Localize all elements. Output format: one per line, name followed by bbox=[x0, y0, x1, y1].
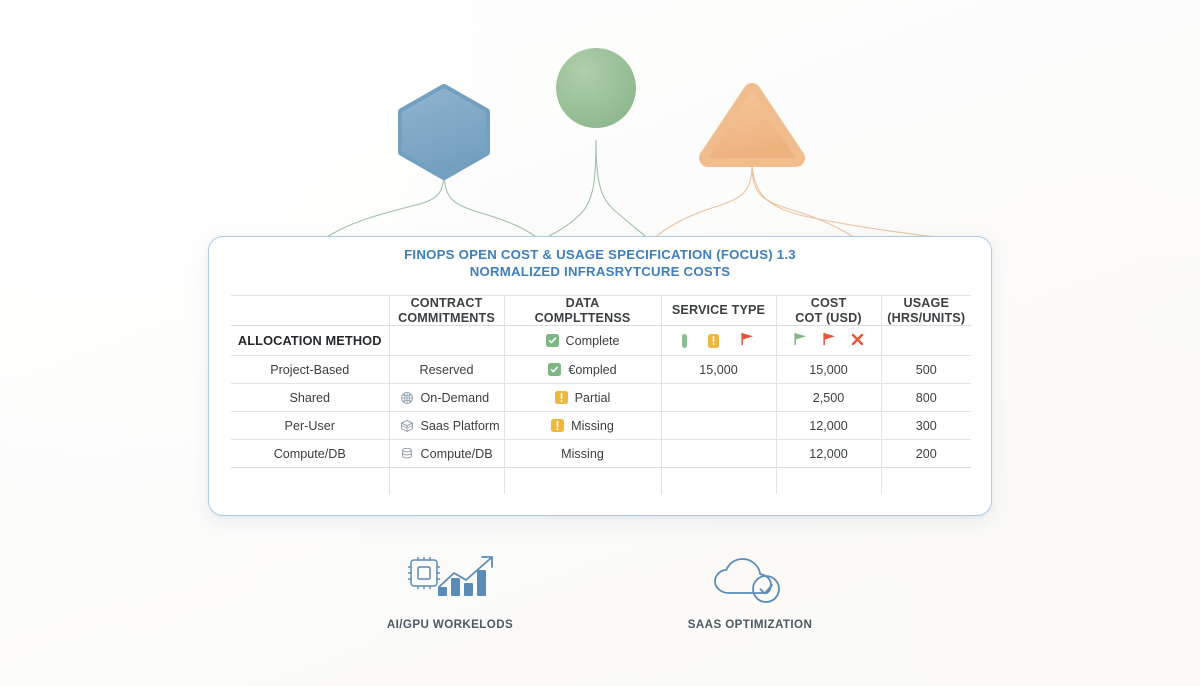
table-row: Per-User Saas Platform bbox=[231, 412, 971, 440]
row-cost: 12,000 bbox=[776, 440, 881, 468]
hexagon-shape bbox=[402, 88, 486, 176]
allocation-commitments-cell bbox=[389, 326, 504, 356]
feature-caption: AI/GPU WORKELODS bbox=[387, 618, 513, 631]
row-usage: 800 bbox=[881, 384, 971, 412]
row-cost: 2,500 bbox=[776, 384, 881, 412]
col-header-data-completeness: DATA COMPLTTENSS bbox=[504, 296, 661, 326]
allocation-method-label: ALLOCATION METHOD bbox=[231, 326, 389, 356]
table-body: ALLOCATION METHOD Complete bbox=[231, 326, 971, 494]
connector-orange-group bbox=[652, 164, 960, 240]
card-title: FINOPS OPEN COST & USAGE SPECIFICATION (… bbox=[209, 237, 991, 280]
allocation-method-row: ALLOCATION METHOD Complete bbox=[231, 326, 971, 356]
col-header-service-type: SERVICE TYPE bbox=[661, 296, 776, 326]
flag-red-icon bbox=[822, 332, 837, 349]
row-completeness: €ompled bbox=[504, 356, 661, 384]
circle-shape bbox=[556, 48, 636, 128]
col-header-line1: USAGE bbox=[882, 296, 972, 311]
allocation-service-icons-cell bbox=[661, 326, 776, 356]
row-completeness: Partial bbox=[504, 384, 661, 412]
row-method: Shared bbox=[231, 384, 389, 412]
col-header-cost: COST COT (USD) bbox=[776, 296, 881, 326]
warn-amber-icon bbox=[551, 419, 564, 432]
table-row: Shared On-Demand bbox=[231, 384, 971, 412]
cloud-check-icon bbox=[708, 552, 792, 610]
row-commitment-text: On-Demand bbox=[421, 391, 490, 405]
database-icon bbox=[400, 447, 414, 461]
row-method: Compute/DB bbox=[231, 440, 389, 468]
row-completeness-text: Missing bbox=[571, 419, 614, 433]
chip-barchart-growth-icon bbox=[398, 552, 503, 610]
bar-amber-warning-icon bbox=[708, 334, 719, 348]
row-completeness: Missing bbox=[504, 412, 661, 440]
col-header-contract-commitments: CONTRACT COMMITMENTS bbox=[389, 296, 504, 326]
col-header-line2: (HRS/UNITS) bbox=[882, 311, 972, 326]
allocation-completeness-cell: Complete bbox=[504, 326, 661, 356]
row-usage: 300 bbox=[881, 412, 971, 440]
feature-row: AI/GPU WORKELODS SAAS OPTIMIZATION bbox=[0, 552, 1200, 631]
col-header-line1: COST bbox=[777, 296, 881, 311]
row-cost: 15,000 bbox=[776, 356, 881, 384]
row-completeness-text: €ompled bbox=[568, 363, 616, 377]
col-header-usage: USAGE (HRS/UNITS) bbox=[881, 296, 971, 326]
table-header-row: CONTRACT COMMITMENTS DATA COMPLTTENSS SE… bbox=[231, 296, 971, 326]
card-title-line2: NORMALIZED INFRASRYTCURE COSTS bbox=[209, 264, 991, 281]
flag-green-icon bbox=[793, 332, 808, 349]
col-header-line2: COMPLTTENSS bbox=[505, 311, 661, 326]
allocation-completeness-text: Complete bbox=[566, 334, 620, 348]
cross-red-icon bbox=[851, 333, 864, 349]
col-header-line1: CONTRACT bbox=[390, 296, 504, 311]
row-completeness: Missing bbox=[504, 440, 661, 468]
row-commitment: Saas Platform bbox=[389, 412, 504, 440]
card-title-line1: FINOPS OPEN COST & USAGE SPECIFICATION (… bbox=[404, 247, 796, 262]
row-commitment: Reserved bbox=[389, 356, 504, 384]
check-green-icon bbox=[546, 334, 559, 347]
row-service-type bbox=[661, 384, 776, 412]
row-cost: 12,000 bbox=[776, 412, 881, 440]
table-row: Compute/DB Compute/DB bbox=[231, 440, 971, 468]
allocation-usage-cell bbox=[881, 326, 971, 356]
bar-green-icon bbox=[682, 334, 687, 348]
table-spacer-row bbox=[231, 468, 971, 494]
row-service-type bbox=[661, 412, 776, 440]
feature-saas-optimization: SAAS OPTIMIZATION bbox=[655, 552, 845, 631]
row-usage: 500 bbox=[881, 356, 971, 384]
col-header-line2: COMMITMENTS bbox=[390, 311, 504, 326]
row-method: Project-Based bbox=[231, 356, 389, 384]
col-header-method bbox=[231, 296, 389, 326]
table-header: CONTRACT COMMITMENTS DATA COMPLTTENSS SE… bbox=[231, 296, 971, 326]
row-service-type: 15,000 bbox=[661, 356, 776, 384]
allocation-cost-icons-cell bbox=[776, 326, 881, 356]
row-commitment: Compute/DB bbox=[389, 440, 504, 468]
focus-spec-card: FINOPS OPEN COST & USAGE SPECIFICATION (… bbox=[208, 236, 992, 516]
connector-green-group bbox=[322, 140, 650, 240]
row-commitment-text: Saas Platform bbox=[421, 419, 500, 433]
row-method: Per-User bbox=[231, 412, 389, 440]
rounded-triangle-shape bbox=[708, 92, 796, 158]
feature-caption: SAAS OPTIMIZATION bbox=[688, 618, 812, 631]
infographic-canvas: FINOPS OPEN COST & USAGE SPECIFICATION (… bbox=[0, 0, 1200, 686]
col-header-line1: DATA bbox=[505, 296, 661, 311]
table-row: Project-Based Reserved €ompled bbox=[231, 356, 971, 384]
warn-amber-icon bbox=[555, 391, 568, 404]
row-completeness-text: Partial bbox=[575, 391, 611, 405]
col-header-line1: SERVICE TYPE bbox=[662, 303, 776, 318]
feature-ai-gpu-workloads: AI/GPU WORKELODS bbox=[355, 552, 545, 631]
row-commitment-text: Compute/DB bbox=[421, 447, 493, 461]
flag-red-icon bbox=[740, 332, 755, 349]
row-completeness-text: Missing bbox=[561, 447, 604, 461]
row-service-type bbox=[661, 440, 776, 468]
row-commitment: On-Demand bbox=[389, 384, 504, 412]
col-header-line2: COT (USD) bbox=[777, 311, 881, 326]
check-green-icon bbox=[548, 363, 561, 376]
neural-mesh-icon bbox=[400, 391, 414, 405]
row-commitment-text: Reserved bbox=[420, 363, 474, 377]
normalized-costs-table: CONTRACT COMMITMENTS DATA COMPLTTENSS SE… bbox=[231, 295, 971, 494]
cube-icon bbox=[400, 419, 414, 433]
row-usage: 200 bbox=[881, 440, 971, 468]
